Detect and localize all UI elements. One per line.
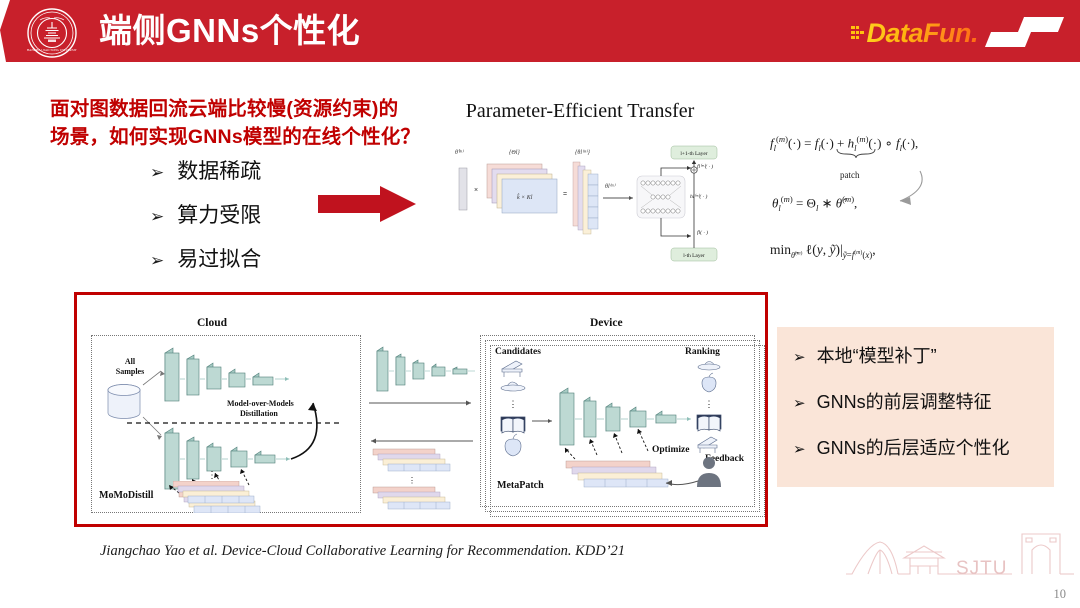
bullet-arrow-icon: ➢ (793, 392, 806, 416)
device-network-diagram: ⋮ (480, 335, 755, 507)
list-item: ➢ 易过拟合 (150, 246, 390, 275)
list-item: ➢ 本地“模型补丁” (793, 344, 1054, 370)
cloud-device-exchange: ⋮ (365, 337, 477, 513)
equation-3: minθ̂(m) ℓ(y, ỹ)|ỹ=f(m)(x), (770, 242, 876, 260)
equation-patch-label: patch (840, 170, 860, 180)
ranking-hat-icon (698, 362, 720, 371)
sjtu-skyline-watermark-icon: SJTU (846, 528, 1074, 584)
question-heading: 面对图数据回流云端比较慢(资源约束)的 场景，如何实现GNNs模型的在线个性化？ (50, 95, 450, 151)
list-item-label: GNNs的后层适应个性化 (817, 436, 1010, 460)
bullet-arrow-icon: ➢ (793, 438, 806, 462)
list-item-label: 数据稀疏 (177, 158, 261, 186)
svg-text:fl( · ): fl( · ) (697, 229, 708, 236)
svg-text:{Θl}: {Θl} (509, 150, 520, 156)
svg-text:θ̂⁽ᵐ⁾: θ̂⁽ᵐ⁾ (455, 149, 464, 156)
list-item: ➢ GNNs的前层调整特征 (793, 390, 1054, 416)
cloud-panel-title: Cloud (197, 317, 227, 329)
list-item-label: GNNs的前层调整特征 (817, 390, 992, 414)
bullet-arrow-icon: ➢ (150, 203, 164, 231)
challenge-bullet-list: ➢ 数据稀疏 ➢ 算力受限 ➢ 易过拟合 (150, 158, 390, 290)
database-cylinder-icon (108, 385, 140, 419)
question-line-1: 面对图数据回流云端比较慢(资源约束)的 (50, 95, 450, 123)
svg-text:θl⁽ᵐ⁾: θl⁽ᵐ⁾ (605, 183, 616, 190)
page-title: 端侧GNNs个性化 (99, 9, 360, 53)
patch-brace-icon (836, 148, 876, 158)
bullet-arrow-icon: ➢ (793, 346, 806, 370)
red-arrow-icon (318, 186, 416, 222)
svg-text:SHANGHAI JIAO TONG UNIVERSITY: SHANGHAI JIAO TONG UNIVERSITY (27, 48, 77, 52)
question-line-2: 场景，如何实现GNNs模型的在线个性化？ (50, 123, 450, 151)
equation-2: θl(m) = Θl ∗ θ̂(m), (772, 194, 857, 213)
book-icon (501, 417, 525, 433)
citation-text: Jiangchao Yao et al. Device-Cloud Collab… (100, 543, 625, 560)
hat-icon (501, 382, 525, 391)
svg-text:hl⁽ᵐ⁾( · ): hl⁽ᵐ⁾( · ) (690, 193, 707, 200)
bullet-arrow-icon: ➢ (150, 159, 164, 187)
page-number: 10 (1054, 587, 1067, 602)
svg-text:{θl⁽ᵐ⁾}: {θl⁽ᵐ⁾} (575, 149, 590, 156)
svg-text:⋮: ⋮ (408, 476, 416, 485)
list-item-label: 算力受限 (177, 202, 261, 230)
datafun-mark-icon (988, 15, 1068, 51)
list-item-label: 易过拟合 (177, 246, 261, 274)
svg-text:l-th Layer: l-th Layer (683, 253, 705, 259)
svg-text:SJTU: SJTU (956, 558, 1008, 579)
ranking-book-icon (697, 415, 721, 431)
svg-text:⋮: ⋮ (509, 399, 518, 409)
patch-curved-arrow-icon (864, 167, 926, 209)
device-panel-title: Device (590, 317, 623, 329)
datafun-wordmark: DataFun. (866, 20, 978, 47)
list-item-label: 本地“模型补丁” (817, 344, 937, 368)
conclusion-box: ➢ 本地“模型补丁” ➢ GNNs的前层调整特征 ➢ GNNs的后层适应个性化 (777, 327, 1054, 487)
ranking-apple-icon (702, 373, 716, 392)
parameter-efficient-transfer-diagram: θ̂⁽ᵐ⁾ × {Θl} k̂ × Kl = {θl⁽ᵐ⁾} θl⁽ᵐ⁾ l+1… (447, 140, 722, 270)
ranking-piano-icon (698, 437, 717, 453)
architecture-figure-frame: Cloud All Samples Model-over-Models Dist… (74, 292, 768, 527)
svg-text:l+1-th Layer: l+1-th Layer (680, 151, 707, 157)
datafun-logo: DataFun. (851, 14, 1068, 52)
svg-text:⋮: ⋮ (705, 399, 714, 409)
svg-text:k̂ × Kl: k̂ × Kl (517, 194, 533, 201)
datafun-dots-icon (851, 22, 865, 44)
svg-text:=: = (563, 191, 567, 198)
list-item: ➢ GNNs的后层适应个性化 (793, 436, 1054, 462)
list-item: ➢ 数据稀疏 (150, 158, 390, 187)
piano-icon (502, 361, 522, 377)
bullet-arrow-icon: ➢ (150, 247, 164, 275)
equation-block: fl(m)(·) = fl(·) + hl(m)(·) ∘ fl(·), pat… (752, 112, 1052, 272)
cloud-vertical-dots: ⋮ (207, 473, 217, 479)
svg-text:fl⁽ᵐ⁾( · ): fl⁽ᵐ⁾( · ) (697, 163, 713, 170)
transfer-figure-title: Parameter-Efficient Transfer (455, 100, 705, 123)
user-icon (697, 457, 721, 487)
sjtu-seal-icon: SHANGHAI JIAO TONG UNIVERSITY (27, 8, 77, 58)
cloud-patch-stack-bottom (173, 481, 263, 507)
apple-icon (505, 434, 521, 456)
svg-text:×: × (474, 187, 478, 194)
